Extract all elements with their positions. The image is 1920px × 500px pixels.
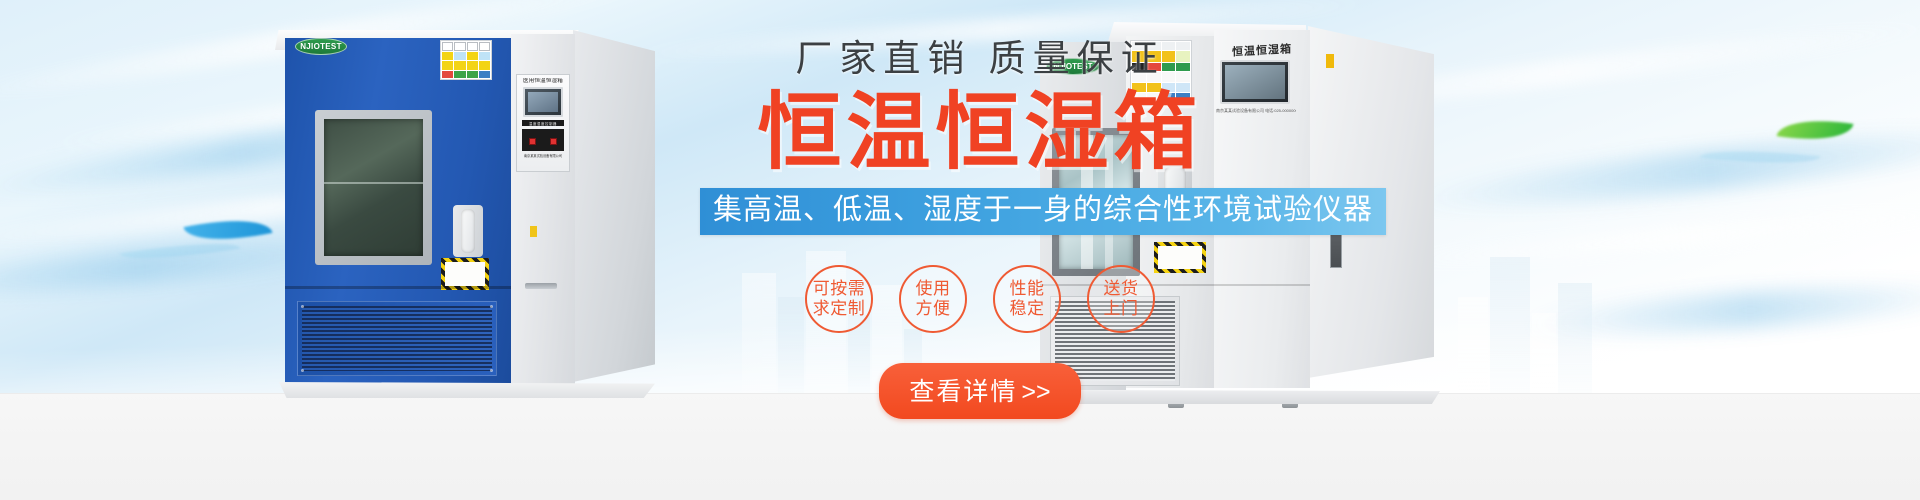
banner-copy-block: 厂家直销 质量保证 恒温恒湿箱 集高温、低温、湿度于一身的综合性环境试验仪器 可… bbox=[700, 40, 1260, 419]
left-chamber-side-handle bbox=[525, 283, 557, 289]
feature-badge-easy-use[interactable]: 使用 方便 bbox=[899, 265, 967, 333]
view-details-button[interactable]: 查看详情>> bbox=[879, 363, 1080, 419]
cta-label: 查看详情 bbox=[909, 378, 1017, 406]
banner-subtitle: 集高温、低温、湿度于一身的综合性环境试验仪器 bbox=[700, 188, 1386, 235]
banner-headline: 恒温恒湿箱 bbox=[700, 90, 1260, 174]
feature-badge-list: 可按需 求定制 使用 方便 性能 稳定 送货 上门 bbox=[700, 265, 1260, 333]
promo-banner: NJIOTEST 医用恒温恒湿箱 温度湿度控制器 南京某某试验设备有限公司 bbox=[0, 0, 1920, 500]
left-chamber-touchscreen bbox=[523, 87, 563, 117]
feature-badge-custom[interactable]: 可按需 求定制 bbox=[805, 265, 873, 333]
feature-badge-line2: 求定制 bbox=[813, 299, 866, 320]
left-chamber-door-window bbox=[315, 110, 432, 265]
left-chamber-strip-text: 温度湿度控制器 bbox=[529, 121, 557, 126]
left-chamber-control-panel: 医用恒温恒湿箱 温度湿度控制器 南京某某试验设备有限公司 bbox=[516, 74, 570, 172]
left-chamber-side-body bbox=[573, 30, 655, 382]
left-chamber-panel-footer: 南京某某试验设备有限公司 bbox=[520, 153, 566, 158]
right-chamber-yellow-marker bbox=[1326, 54, 1334, 68]
left-chamber-indicator-light bbox=[550, 138, 557, 145]
left-chamber-door-handle bbox=[453, 205, 483, 257]
feature-badge-line1: 送货 bbox=[1104, 279, 1139, 300]
feature-badge-line1: 使用 bbox=[916, 279, 951, 300]
feature-badge-line2: 上门 bbox=[1104, 299, 1139, 320]
left-chamber-panel-title: 医用恒温恒湿箱 bbox=[520, 78, 566, 84]
left-chamber-glass bbox=[324, 119, 423, 256]
cta-arrows-icon: >> bbox=[1021, 378, 1050, 406]
left-chamber-brand-logo: NJIOTEST bbox=[295, 38, 347, 55]
left-chamber-indicator-row bbox=[522, 129, 564, 151]
feature-badge-line2: 稳定 bbox=[1010, 299, 1045, 320]
left-chamber-vent-grille bbox=[297, 301, 497, 376]
left-chamber-seam bbox=[285, 286, 511, 289]
left-chamber-panel-strip: 温度湿度控制器 bbox=[522, 120, 564, 126]
banner-tagline: 厂家直销 质量保证 bbox=[700, 40, 1260, 77]
feature-badge-line2: 方便 bbox=[916, 299, 951, 320]
product-image-left-chamber: NJIOTEST 医用恒温恒湿箱 温度湿度控制器 南京某某试验设备有限公司 bbox=[275, 18, 665, 406]
feature-badge-delivery[interactable]: 送货 上门 bbox=[1087, 265, 1155, 333]
left-chamber-base-plinth bbox=[279, 382, 655, 398]
feature-badge-line1: 可按需 bbox=[813, 279, 866, 300]
feature-badge-line1: 性能 bbox=[1010, 279, 1045, 300]
left-chamber-indicator-light bbox=[529, 138, 536, 145]
feature-badge-stable[interactable]: 性能 稳定 bbox=[993, 265, 1061, 333]
left-chamber-warning-sticker bbox=[440, 40, 492, 80]
cta-container: 查看详情>> bbox=[700, 363, 1260, 419]
left-chamber-yellow-marker bbox=[530, 226, 537, 237]
